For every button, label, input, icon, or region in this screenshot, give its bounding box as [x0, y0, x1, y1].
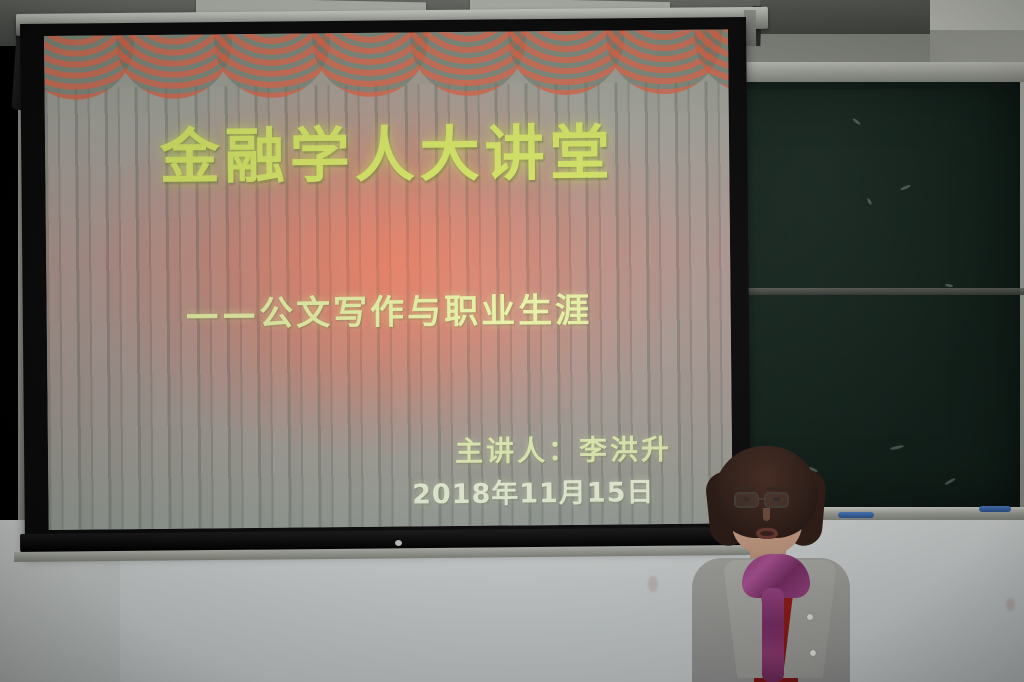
- lecturer-mouth-inner: [760, 531, 774, 536]
- eyeglasses-icon: [734, 492, 759, 508]
- slide-title: 金融学人大讲堂: [45, 103, 730, 197]
- ceiling-panel: [928, 0, 1024, 34]
- blue-marker[interactable]: [979, 506, 1011, 512]
- coat-button: [807, 614, 813, 620]
- slide-presenter: 主讲人：李洪升: [48, 428, 672, 474]
- eyeglasses-icon: [764, 492, 789, 508]
- slide-curtain-valance: [44, 29, 729, 102]
- presentation-slide: 金融学人大讲堂 ——公文写作与职业生涯 主讲人：李洪升 2018年11月15日: [44, 29, 733, 530]
- lecturer-eyebrow: [736, 487, 756, 490]
- wall-smudge: [1006, 598, 1015, 611]
- screen-bar-stud: [395, 540, 402, 546]
- slide-subtitle: ——公文写作与职业生涯: [46, 281, 730, 337]
- coat-button: [810, 650, 816, 656]
- lecturer-scarf-tail: [762, 588, 784, 682]
- lecturer: [686, 446, 854, 682]
- slide-date: 2018年11月15日: [48, 470, 654, 515]
- projector-screen[interactable]: 金融学人大讲堂 ——公文写作与职业生涯 主讲人：李洪升 2018年11月15日: [44, 29, 733, 530]
- lecturer-eyebrow: [766, 487, 786, 490]
- wall-smudge: [648, 576, 658, 592]
- eyeglasses-bridge: [759, 498, 764, 500]
- lecture-hall-scene: 金融学人大讲堂 ——公文写作与职业生涯 主讲人：李洪升 2018年11月15日: [0, 0, 1024, 682]
- blackboard-middle-rail: [735, 288, 1024, 295]
- lecturer-nose: [763, 508, 770, 521]
- blackboard-top-rail: [722, 62, 1024, 82]
